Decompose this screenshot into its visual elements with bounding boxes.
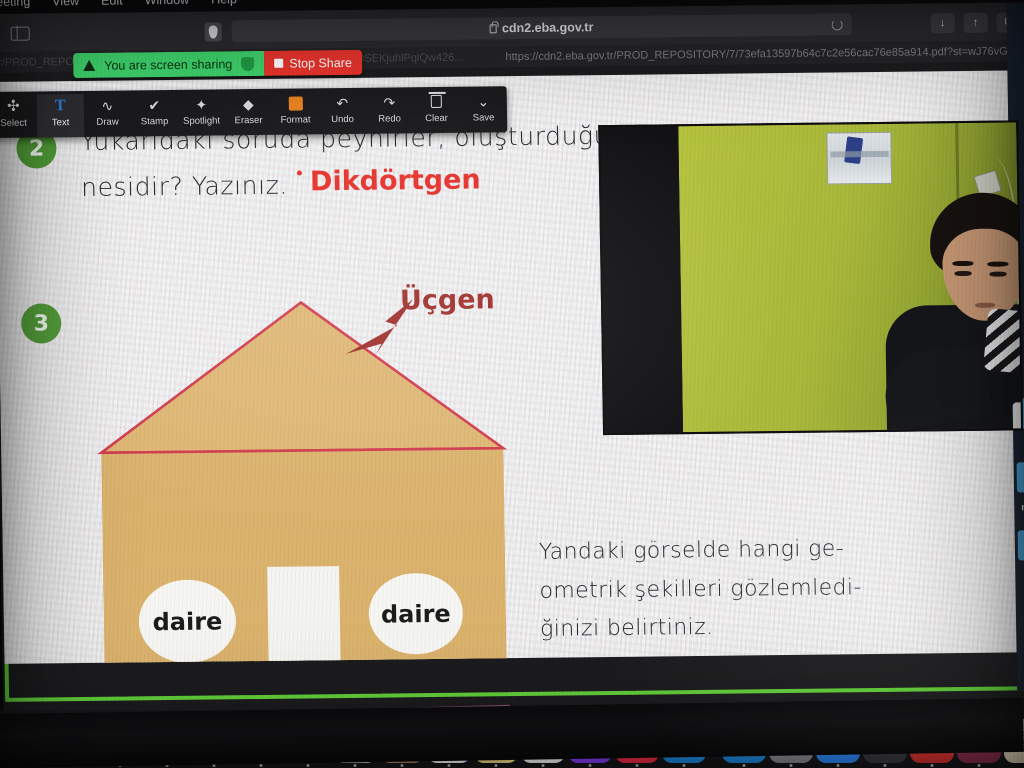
dock-running-dot	[542, 764, 545, 767]
annot-label-eraser: Eraser	[234, 115, 262, 126]
dock-running-dot	[260, 764, 263, 767]
annot-label-spotlight: Spotlight	[183, 115, 220, 126]
annot-label-draw: Draw	[96, 117, 118, 128]
tab-url-right[interactable]: https://cdn2.eba.gov.tr/PROD_REPOSITORY/…	[505, 44, 1024, 62]
annot-tool-undo[interactable]: ↶ Undo	[319, 91, 367, 126]
downloads-icon[interactable]: ↓	[930, 13, 954, 33]
address-bar[interactable]: cdn2.eba.gov.tr	[232, 13, 852, 42]
question-2-line-2: nesidir? Yazınız.	[81, 167, 288, 208]
annot-tool-clear[interactable]: Clear	[413, 90, 461, 125]
address-bar-text: cdn2.eba.gov.tr	[502, 20, 594, 35]
zoom-annotation-toolbar: ✣ Select T Text ∿ Draw ✔ Stamp ✦ Spotlig…	[0, 86, 507, 138]
trash-icon	[431, 95, 442, 108]
student-eye-right	[990, 272, 1007, 277]
dock-running-dot	[307, 764, 310, 767]
dock-running-dot	[589, 764, 592, 767]
text-tool-icon: T	[55, 97, 66, 114]
dock-running-dot	[448, 764, 451, 767]
screen-sharing-pill: You are screen sharing Stop Share	[73, 50, 362, 78]
photo-of-laptop-screen: eeting View Edit Window Help %18 ⚡ Per 1…	[0, 0, 1024, 768]
annot-label-redo: Redo	[378, 113, 401, 124]
sharing-status: You are screen sharing	[73, 51, 264, 78]
draw-squiggle-icon: ∿	[101, 97, 113, 114]
annot-label-clear: Clear	[425, 113, 448, 124]
dock-running-dot	[683, 764, 686, 767]
reader-shield-icon[interactable]	[205, 22, 222, 41]
menu-item-edit[interactable]: Edit	[101, 0, 123, 8]
menu-item-help[interactable]: Help	[211, 0, 237, 7]
participant-video-tile[interactable]	[598, 120, 1023, 435]
dock-running-dot	[401, 764, 404, 767]
annot-tool-save[interactable]: ⌄ Save	[460, 89, 508, 124]
question-3-badge: 3	[21, 303, 62, 343]
laptop-screen: eeting View Edit Window Help %18 ⚡ Per 1…	[0, 0, 1024, 720]
student-figure	[891, 192, 1023, 430]
q3-line-2: ometrik şekilleri gözlemledi-	[539, 568, 890, 610]
share-arrow-icon	[83, 60, 95, 71]
share-icon[interactable]: ↑	[963, 13, 987, 33]
move-cursor-icon: ✣	[7, 98, 20, 115]
menu-item-window[interactable]: Window	[145, 0, 190, 7]
student-mouth	[975, 303, 995, 308]
annot-tool-draw[interactable]: ∿ Draw	[84, 93, 132, 128]
reload-icon[interactable]	[832, 19, 843, 30]
annot-tool-format[interactable]: Format	[272, 91, 320, 126]
shield-icon	[241, 57, 254, 71]
redo-arrow-icon: ↷	[383, 93, 395, 110]
dock-running-dot	[837, 764, 840, 767]
annot-tool-stamp[interactable]: ✔ Stamp	[131, 93, 179, 128]
annot-label-select: Select	[0, 118, 27, 129]
menu-item-meeting[interactable]: eeting	[0, 0, 30, 9]
stop-share-button[interactable]: Stop Share	[264, 50, 362, 76]
annot-tool-select[interactable]: ✣ Select	[0, 94, 37, 129]
dock-running-dot	[636, 764, 639, 767]
dock-running-dot	[978, 764, 981, 767]
format-color-icon	[288, 96, 302, 110]
video-letterbox	[600, 126, 683, 433]
dock-running-dot	[495, 764, 498, 767]
open-book	[1013, 400, 1023, 430]
checkmark-stamp-icon: ✔	[148, 96, 160, 113]
annot-label-save: Save	[473, 112, 495, 123]
spotlight-wand-icon: ✦	[195, 96, 207, 113]
question-3-text: Yandaki görselde hangi ge- ometrik şekil…	[539, 530, 891, 649]
annotation-dikdortgen[interactable]: Dikdörtgen	[310, 164, 481, 197]
sidebar-icon[interactable]	[11, 27, 30, 41]
annot-tool-text[interactable]: T Text	[37, 94, 85, 138]
student-scarf	[983, 308, 1023, 375]
annot-label-stamp: Stamp	[141, 116, 169, 127]
stop-square-icon	[274, 59, 283, 68]
annot-label-text: Text	[52, 117, 70, 128]
annot-label-undo: Undo	[331, 114, 354, 125]
q3-line-3: ğinizi belirtiniz.	[540, 607, 891, 649]
sharing-status-text: You are screen sharing	[104, 57, 232, 72]
eraser-icon: ◆	[243, 95, 254, 112]
student-brow-left	[952, 261, 973, 266]
annot-label-format: Format	[280, 114, 310, 125]
dock-running-dot	[743, 764, 746, 767]
annot-tool-eraser[interactable]: ◆ Eraser	[225, 92, 273, 127]
dock-running-dot	[790, 764, 793, 767]
wall-poster	[826, 132, 892, 185]
participant-thumb-3[interactable]	[1018, 530, 1024, 560]
undo-arrow-icon: ↶	[336, 94, 348, 111]
lock-icon	[490, 24, 497, 33]
menu-item-view[interactable]: View	[52, 0, 79, 8]
annot-tool-redo[interactable]: ↷ Redo	[366, 90, 414, 125]
annot-tool-spotlight[interactable]: ✦ Spotlight	[178, 92, 226, 127]
dock-running-dot	[354, 764, 357, 767]
stop-share-label: Stop Share	[289, 55, 352, 70]
participant-thumb-2[interactable]	[1017, 462, 1024, 492]
dock-running-dot	[931, 764, 934, 767]
q3-line-1: Yandaki görselde hangi ge-	[539, 530, 890, 572]
annotation-ucgen[interactable]: Üçgen	[400, 284, 495, 316]
student-eye-left	[955, 271, 972, 276]
video-background-wall	[678, 122, 1021, 432]
dock-running-dot	[884, 764, 887, 767]
annotation-dot	[297, 170, 302, 175]
student-brow-right	[987, 261, 1008, 266]
